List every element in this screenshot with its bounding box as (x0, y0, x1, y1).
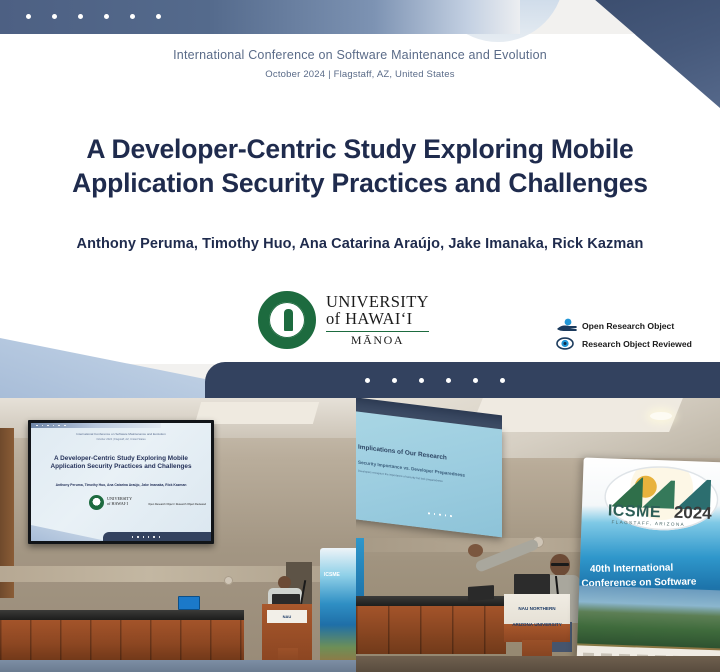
badge-open-research-object: Open Research Object (556, 318, 716, 333)
presentation-title-card: International Conference on Software Mai… (0, 0, 720, 672)
badge-research-object-reviewed: Research Object Reviewed (556, 336, 716, 351)
conference-header: International Conference on Software Mai… (0, 48, 720, 80)
mini-title-line-2: Application Security Practices and Chall… (51, 463, 192, 470)
mini-footer-dot (137, 536, 138, 537)
mini-university-wordmark: UNIVERSITY of HAWAIʻI (107, 497, 132, 507)
ceiling-light-icon (650, 412, 672, 420)
stage-counter-top (0, 610, 244, 620)
mini-dot (47, 425, 49, 427)
photo-strip: International Conference on Software Mai… (0, 398, 720, 672)
mini-footer-dot (143, 536, 144, 537)
university-logo-divider (326, 331, 429, 333)
mini-footer-dot (148, 536, 149, 537)
conference-name: International Conference on Software Mai… (0, 48, 720, 62)
footer-dot-row (365, 378, 505, 383)
author-list: Anthony Peruma, Timothy Huo, Ana Catarin… (0, 236, 720, 252)
room2-slide-dots (428, 513, 452, 518)
room2-left-banner-edge (356, 538, 364, 598)
room2-slide-dot (450, 515, 452, 517)
lectern-plate: NAU (267, 610, 307, 623)
mini-dot (53, 425, 55, 427)
header-dot-row (26, 14, 161, 19)
mini-dot (42, 425, 44, 427)
room2-slide-heading: Implications of Our Research (358, 444, 447, 462)
mini-dot (64, 425, 66, 427)
conference-banner: ICSME (320, 548, 356, 672)
room2-slide-dot (439, 514, 441, 516)
conference-details: October 2024 | Flagstaff, AZ, United Sta… (0, 69, 720, 80)
wall-speaker-icon (224, 576, 233, 585)
mini-badges: Open Research Object / Research Object R… (148, 503, 206, 506)
university-logo-line-2: of HAWAIʻI (326, 310, 429, 327)
room2-lectern-plate: NAU NORTHERN ARIZONA UNIVERSITY (510, 601, 564, 617)
mini-footer-dot (153, 536, 154, 537)
presenter2-hand (468, 544, 483, 557)
header-dot (52, 14, 57, 19)
footer-dot (500, 378, 505, 383)
header-dot (156, 14, 161, 19)
mini-footer-dot (132, 536, 133, 537)
header-dot (130, 14, 135, 19)
room2-counter-laptop (468, 585, 494, 601)
badge-open-research-object-label: Open Research Object (582, 321, 674, 331)
university-seal-icon (258, 291, 316, 349)
room2-slide-subheading: Security Importance vs. Developer Prepar… (358, 460, 465, 478)
icsme-banner: ICSME 2024 FLAGSTAFF, ARIZONA 40th Inter… (576, 458, 720, 672)
header-dot (104, 14, 109, 19)
room-floor (0, 660, 356, 672)
projected-slide: International Conference on Software Mai… (31, 423, 211, 541)
mini-logo-line-2: of HAWAIʻI (107, 502, 132, 507)
slide-header-band (0, 0, 520, 34)
mini-authors: Anthony Peruma, Timothy Huo, Ana Catarin… (31, 483, 211, 487)
projection-screen-frame: International Conference on Software Mai… (28, 420, 214, 544)
header-dot (26, 14, 31, 19)
presenter2-glasses-icon (551, 563, 569, 566)
mini-header-dots (36, 425, 66, 427)
footer-dot (365, 378, 370, 383)
room2-floor (356, 656, 720, 672)
room2-slide-dot (434, 513, 436, 515)
footer-dot (446, 378, 451, 383)
university-wordmark: UNIVERSITY of HAWAIʻI MĀNOA (326, 293, 429, 347)
mini-header-band (31, 423, 161, 428)
mini-conference-name: International Conference on Software Mai… (31, 432, 211, 436)
room2-cabinets (356, 606, 506, 654)
research-object-badges: Open Research Object Research Object Rev… (556, 318, 716, 351)
room2-slide-dot (428, 513, 430, 515)
mini-title: A Developer-Centric Study Exploring Mobi… (39, 455, 203, 472)
title-slide: International Conference on Software Mai… (0, 0, 720, 398)
stage-cabinets (0, 620, 244, 662)
mini-dot (36, 425, 38, 427)
photo-presenter-gesturing: Implications of Our Research Security Im… (356, 398, 720, 672)
mini-footer-dot (159, 536, 160, 537)
page-title: A Developer-Centric Study Exploring Mobi… (30, 133, 690, 201)
title-line-2: Application Security Practices and Chall… (30, 167, 690, 201)
footer-dot (392, 378, 397, 383)
room2-projected-slide: Implications of Our Research Security Im… (356, 411, 502, 538)
room2-lectern: NAU NORTHERN ARIZONA UNIVERSITY (504, 594, 570, 642)
title-line-1: A Developer-Centric Study Exploring Mobi… (86, 134, 633, 164)
icsme-logo-year: 2024 (674, 503, 713, 524)
conference-banner-label: ICSME (324, 572, 340, 578)
icsme-banner-line-1: 40th International (590, 563, 674, 575)
open-access-hand-icon (556, 318, 578, 333)
mini-university-seal-icon (89, 495, 104, 510)
university-logo-line-1: UNIVERSITY (326, 293, 429, 310)
badge-research-object-reviewed-label: Research Object Reviewed (582, 339, 692, 349)
university-logo: UNIVERSITY of HAWAIʻI MĀNOA (258, 284, 468, 356)
mini-blue-wedge (31, 525, 107, 541)
university-logo-line-3: MĀNOA (326, 334, 429, 347)
mini-footer-dots (132, 536, 160, 537)
room2-slide-dot (445, 515, 447, 517)
room2-podium-laptop (514, 574, 550, 596)
header-dot (78, 14, 83, 19)
photo-presentation-title-slide: International Conference on Software Mai… (0, 398, 356, 672)
footer-dot (419, 378, 424, 383)
mini-dot (58, 425, 60, 427)
mini-conference-details: October 2024 | Flagstaff, AZ, United Sta… (31, 438, 211, 441)
footer-dot (473, 378, 478, 383)
eye-reviewed-icon (556, 336, 578, 351)
monitor-on-counter (178, 596, 200, 610)
mini-title-line-1: A Developer-Centric Study Exploring Mobi… (54, 455, 188, 462)
icsme-banner-photo (577, 585, 720, 648)
